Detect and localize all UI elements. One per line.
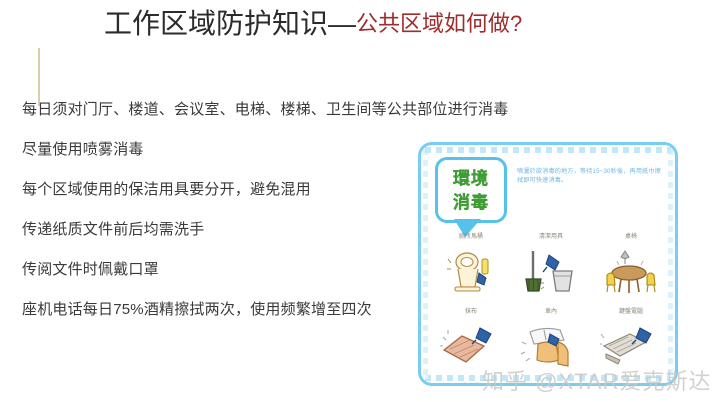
body-line: 座机电话每日75%酒精擦拭两次，使用频繁增至四次 [22, 300, 422, 320]
icon-cell-toilet: 廁所馬桶 [431, 229, 511, 304]
icon-label: 洗衣機 [462, 381, 480, 386]
speech-bubble-label: 環境 消毒 [438, 167, 504, 215]
icon-label: 抹布 [465, 306, 477, 315]
body-line: 传阅文件时佩戴口罩 [22, 260, 422, 280]
illustration-icon-grid: 廁所馬桶 清潔用具 [431, 229, 671, 379]
speech-bubble-line2: 消毒 [438, 191, 504, 215]
gold-accent-rule [38, 48, 40, 106]
icon-cell-cloth: 抹布 [431, 304, 511, 379]
icon-cell-keyboard: 鍵盤電腦 [591, 304, 671, 379]
page-title-dash: — [328, 8, 356, 39]
illustration-frame: 環境 消毒 噴灑於欲消毒的地方，等待15~30秒後，再用紙巾擦拭即可快速消毒。 … [418, 142, 678, 386]
body-line: 每日须对门厅、楼道、会议室、电梯、楼梯、卫生间等公共部位进行消毒 [22, 100, 422, 120]
icon-label: 清潔用具 [539, 231, 563, 240]
icon-label: 車內 [545, 306, 557, 315]
table-chairs-icon [599, 249, 663, 297]
body-line: 传递纸质文件前后均需洗手 [22, 220, 422, 240]
body-line: 尽量使用喷雾消毒 [22, 140, 422, 160]
page-title-accent: 公共区域如何做? [356, 11, 522, 36]
icon-label: 口罩 [545, 381, 557, 386]
keyboard-icon [600, 324, 662, 368]
body-line: 每个区域使用的保洁用具要分开，避免混用 [22, 180, 422, 200]
speech-bubble: 環境 消毒 [435, 157, 507, 223]
body-text-block: 每日须对门厅、楼道、会议室、电梯、楼梯、卫生间等公共部位进行消毒 尽量使用喷雾消… [22, 100, 422, 340]
icon-label: 鍵盤電腦 [619, 306, 643, 315]
icon-label: 桌椅 [625, 231, 637, 240]
icon-cell-car-interior: 車內 [511, 304, 591, 379]
illustration-caption: 噴灑於欲消毒的地方，等待15~30秒後，再用紙巾擦拭即可快速消毒。 [517, 167, 665, 185]
toilet-icon [445, 249, 497, 295]
page-title: 工作区域防护知识—公共区域如何做? [104, 8, 522, 40]
slide-canvas: 工作区域防护知识—公共区域如何做? 每日须对门厅、楼道、会议室、电梯、楼梯、卫生… [0, 0, 720, 402]
icon-cell-table-chairs: 桌椅 [591, 229, 671, 304]
cloth-icon [440, 324, 502, 368]
page-title-main: 工作区域防护知识 [104, 8, 328, 39]
car-interior-icon [520, 324, 582, 370]
icon-cell-mop-bucket: 清潔用具 [511, 229, 591, 304]
frame-dash-left [423, 149, 428, 379]
icon-label: 廁所馬桶 [459, 231, 483, 240]
illustration-card: 環境 消毒 噴灑於欲消毒的地方，等待15~30秒後，再用紙巾擦拭即可快速消毒。 … [418, 142, 678, 386]
mop-bucket-icon [520, 249, 582, 295]
speech-bubble-line1: 環境 [438, 167, 504, 191]
frame-dash-top [425, 147, 671, 153]
